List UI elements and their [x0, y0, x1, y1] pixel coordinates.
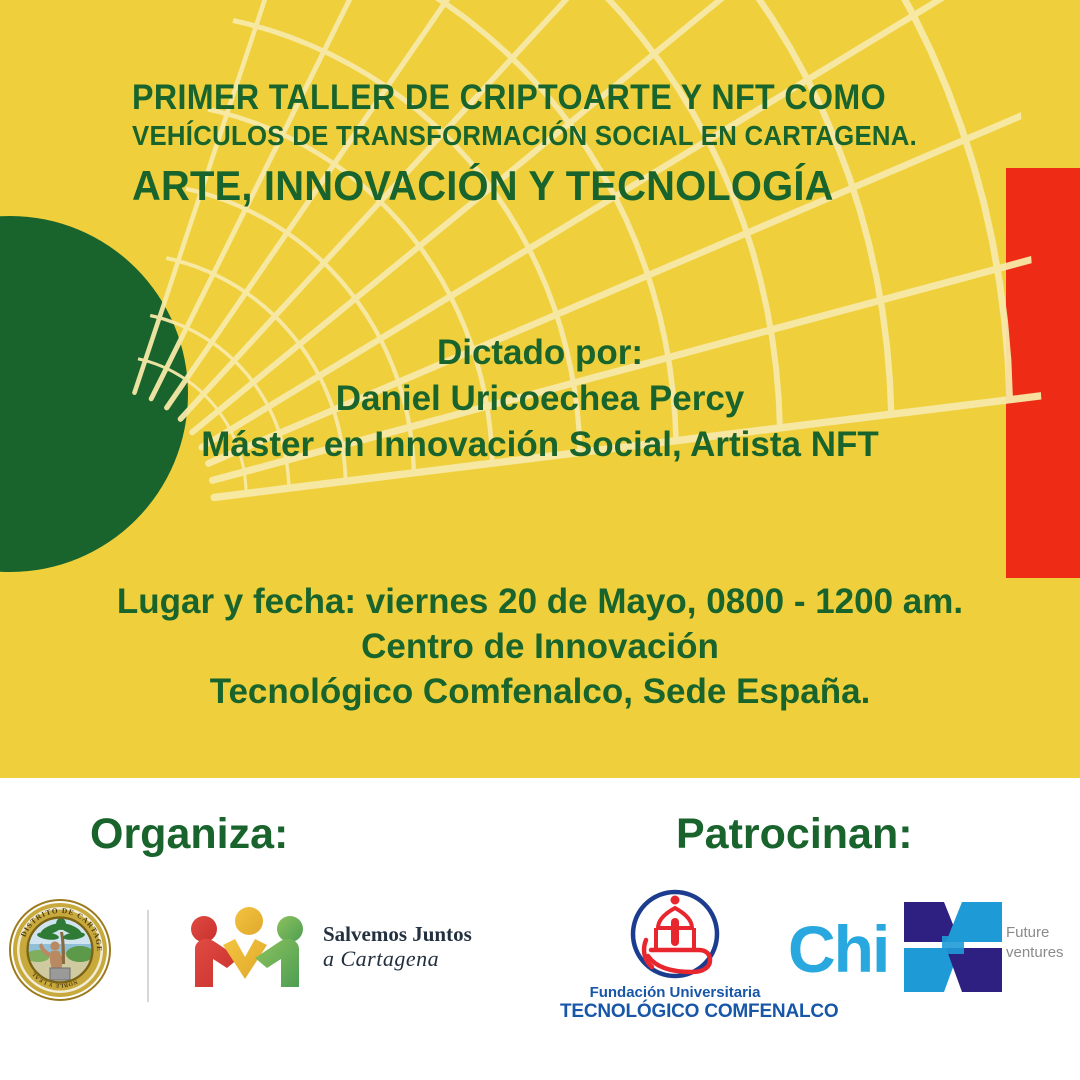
chix-tagline-line-2: ventures [1006, 943, 1064, 963]
comfenalco-logo: Fundación Universitaria TECNOLÓGICO COMF… [560, 888, 790, 1030]
salvemos-line-1: Salvemos Juntos [323, 923, 472, 947]
title-line-2: VEHÍCULOS DE TRANSFORMACIÓN SOCIAL EN CA… [132, 117, 923, 155]
title-line-1: PRIMER TALLER DE CRIPTOARTE Y NFT COMO [132, 78, 923, 117]
salvemos-juntos-logo: Salvemos Juntos a Cartagena [183, 905, 483, 1000]
title-block: PRIMER TALLER DE CRIPTOARTE Y NFT COMO V… [132, 78, 992, 214]
event-poster: PRIMER TALLER DE CRIPTOARTE Y NFT COMO V… [0, 0, 1080, 1080]
comfenalco-line-1: Fundación Universitaria [560, 984, 790, 1001]
venue-line-3: Tecnológico Comfenalco, Sede España. [0, 670, 1080, 715]
chix-logo: Chi Future ventures [788, 893, 1068, 1003]
speaker-credentials: Máster en Innovación Social, Artista NFT [0, 422, 1080, 468]
title-line-3: ARTE, INNOVACIÓN Y TECNOLOGÍA [132, 159, 949, 214]
venue-line-2: Centro de Innovación [0, 625, 1080, 670]
cartagena-seal-icon: DISTRITO DE CARTAGENA DE INDIAS NOBLE Y … [8, 898, 112, 1002]
speaker-label: Dictado por: [0, 330, 1080, 376]
cartagena-seal-logo: DISTRITO DE CARTAGENA DE INDIAS NOBLE Y … [8, 898, 112, 1002]
patrocinan-heading: Patrocinan: [676, 810, 913, 859]
venue-block: Lugar y fecha: viernes 20 de Mayo, 0800 … [0, 580, 1080, 714]
logo-divider [147, 910, 149, 1002]
speaker-block: Dictado por: Daniel Uricoechea Percy Más… [0, 330, 1080, 469]
comfenalco-tower-icon [560, 888, 790, 983]
venue-line-1: Lugar y fecha: viernes 20 de Mayo, 0800 … [0, 580, 1080, 625]
salvemos-wordmark: Salvemos Juntos a Cartagena [323, 923, 472, 971]
salvemos-people-icon [183, 905, 319, 1000]
speaker-name: Daniel Uricoechea Percy [0, 376, 1080, 422]
salvemos-line-2: a Cartagena [323, 947, 472, 972]
comfenalco-line-2: TECNOLÓGICO COMFENALCO [560, 1001, 790, 1023]
organiza-heading: Organiza: [90, 810, 288, 859]
chix-wordmark: Chi [788, 911, 888, 987]
chix-tagline: Future ventures [1006, 923, 1064, 964]
chix-x-icon [898, 896, 1008, 1000]
yellow-background-panel: PRIMER TALLER DE CRIPTOARTE Y NFT COMO V… [0, 0, 1080, 778]
chix-tagline-line-1: Future [1006, 923, 1064, 943]
